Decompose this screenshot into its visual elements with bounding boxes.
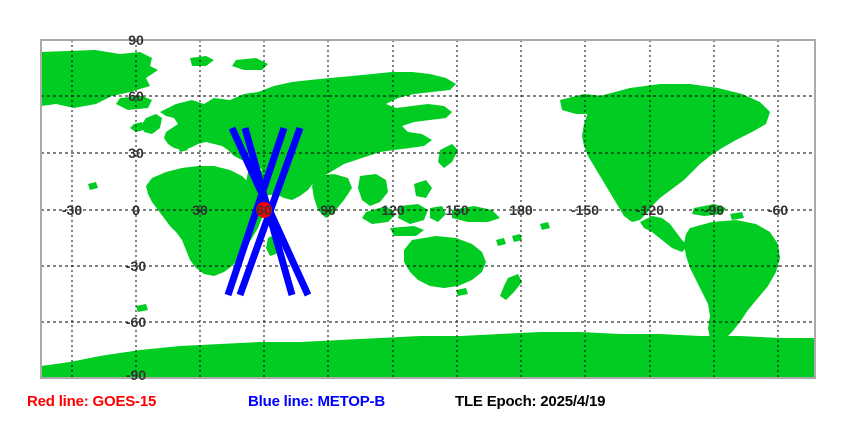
lon-tick-label: 120 [381, 202, 405, 218]
lat-tick-label: -60 [126, 314, 146, 330]
lon-tick-label: 60 [256, 202, 272, 218]
lon-tick-label: 150 [445, 202, 469, 218]
lat-tick-label: 60 [128, 88, 144, 104]
lon-tick-label: -90 [704, 202, 724, 218]
lat-tick-label: -90 [126, 367, 146, 383]
lon-tick-label: -120 [636, 202, 664, 218]
lat-tick-label: 30 [128, 145, 144, 161]
legend-blue-line-metop-b: Blue line: METOP-B [248, 393, 385, 410]
lon-tick-label: -60 [768, 202, 788, 218]
legend-red-line-goes15: Red line: GOES-15 [27, 393, 156, 410]
world-map-svg: -30 0 30 60 90 120 150 180 -150 -120 -90… [0, 0, 850, 425]
lat-tick-label: 0 [132, 202, 140, 218]
lat-tick-label: 90 [128, 32, 144, 48]
satellite-tracking-figure: -30 0 30 60 90 120 150 180 -150 -120 -90… [0, 0, 850, 425]
lon-tick-label: 180 [509, 202, 533, 218]
lon-tick-label: 90 [320, 202, 336, 218]
map-legend: Red line: GOES-15 Blue line: METOP-B TLE… [0, 393, 850, 423]
lon-tick-label: -150 [571, 202, 599, 218]
lat-tick-label: -30 [126, 258, 146, 274]
lon-tick-label: -30 [62, 202, 82, 218]
legend-tle-epoch: TLE Epoch: 2025/4/19 [455, 393, 605, 410]
lon-tick-label: 30 [192, 202, 208, 218]
